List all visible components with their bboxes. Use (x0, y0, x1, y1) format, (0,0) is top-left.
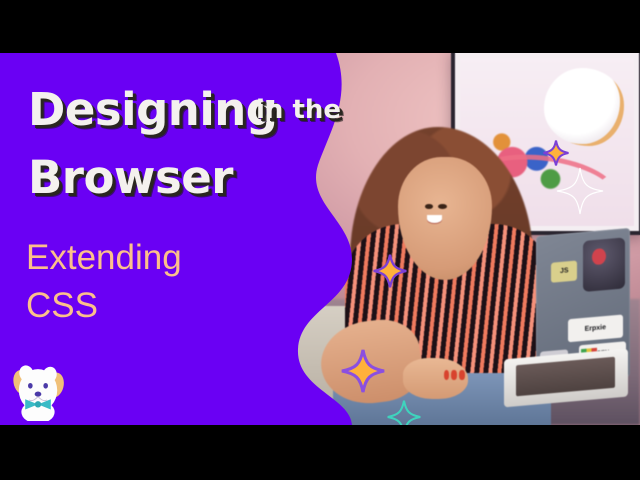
subtitle-line-extending: Extending (26, 238, 182, 278)
subtitle-line-css: CSS (26, 286, 98, 326)
title-line-designing: Designing (28, 83, 278, 136)
video-frame: JS Erpxie CEN (0, 0, 640, 480)
dog-mascot-logo (6, 357, 70, 421)
video-content-band: JS Erpxie CEN (0, 53, 640, 425)
title-line-browser: Browser (28, 151, 233, 204)
title-block: Designing in the Browser Extending CSS (0, 53, 640, 425)
title-line-in-the: in the (256, 95, 341, 125)
